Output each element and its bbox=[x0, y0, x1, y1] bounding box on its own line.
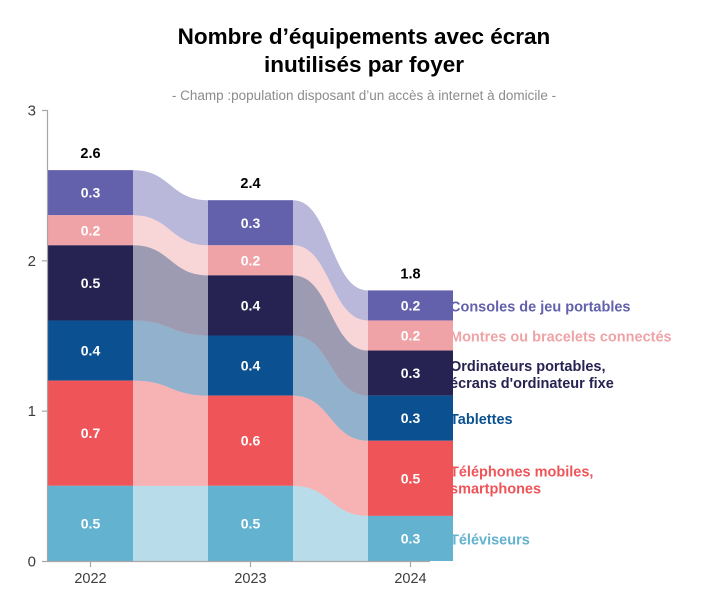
segment-value-label: 0.3 bbox=[401, 530, 421, 546]
legend-item[interactable]: Consoles de jeu portables bbox=[450, 299, 631, 315]
segment-value-label: 0.4 bbox=[241, 358, 261, 374]
legend-item[interactable]: Tablettes bbox=[450, 412, 513, 428]
legend-item[interactable]: Téléviseurs bbox=[450, 532, 530, 548]
segment-value-label: 0.4 bbox=[241, 297, 261, 313]
flow-ribbon bbox=[133, 486, 208, 561]
legend-item[interactable]: Ordinateurs portables,écrans d'ordinateu… bbox=[450, 359, 614, 392]
segment-value-label: 0.4 bbox=[81, 343, 101, 359]
segment-value-label: 0.2 bbox=[81, 222, 101, 238]
x-axis-tick-label: 2024 bbox=[394, 571, 426, 587]
legend-item-label: Montres ou bracelets connectés bbox=[450, 330, 672, 346]
bar-total-label: 1.8 bbox=[400, 266, 420, 282]
segment-value-label: 0.5 bbox=[81, 515, 101, 531]
x-axis-tick-label: 2023 bbox=[234, 571, 266, 587]
y-axis-tick-label: 1 bbox=[28, 403, 36, 420]
legend-item-label: Consoles de jeu portables bbox=[450, 299, 631, 315]
segment-value-label: 0.5 bbox=[401, 470, 421, 486]
legend-item[interactable]: Montres ou bracelets connectés bbox=[450, 330, 672, 346]
y-axis-tick-label: 0 bbox=[28, 554, 36, 571]
segment-value-label: 0.3 bbox=[401, 365, 421, 381]
x-axis-tick-label: 2022 bbox=[74, 571, 106, 587]
segment-value-label: 0.2 bbox=[401, 297, 421, 313]
segment-value-label: 0.7 bbox=[81, 425, 101, 441]
segment-value-label: 0.5 bbox=[241, 515, 261, 531]
chart-subtitle: - Champ :population disposant d’un accès… bbox=[172, 88, 556, 103]
legend-item-label: Téléviseurs bbox=[450, 532, 530, 548]
segment-value-label: 0.3 bbox=[401, 410, 421, 426]
y-axis-tick-label: 3 bbox=[28, 103, 36, 120]
bar-total-label: 2.4 bbox=[240, 176, 260, 192]
segment-value-label: 0.3 bbox=[81, 185, 101, 201]
stacked-bar-alluvial-chart: Nombre d’équipements avec écran inutilis… bbox=[0, 0, 725, 593]
chart-title-line-2: inutilisés par foyer bbox=[264, 52, 464, 77]
legend-item-label: écrans d'ordinateur fixe bbox=[450, 376, 614, 392]
chart-title-line-1: Nombre d’équipements avec écran bbox=[178, 24, 551, 49]
segment-value-label: 0.2 bbox=[401, 328, 421, 344]
legend-item-label: Téléphones mobiles, bbox=[450, 464, 593, 480]
legend-item-label: Ordinateurs portables, bbox=[450, 359, 606, 375]
bar-total-label: 2.6 bbox=[80, 146, 100, 162]
y-axis-tick-label: 2 bbox=[28, 253, 36, 270]
segment-value-label: 0.6 bbox=[241, 433, 261, 449]
flow-ribbon bbox=[133, 381, 208, 486]
segment-value-label: 0.2 bbox=[241, 252, 261, 268]
legend-item-label: Tablettes bbox=[450, 412, 513, 428]
segment-value-label: 0.3 bbox=[241, 215, 261, 231]
segment-value-label: 0.5 bbox=[81, 275, 101, 291]
legend-item-label: smartphones bbox=[450, 481, 541, 497]
